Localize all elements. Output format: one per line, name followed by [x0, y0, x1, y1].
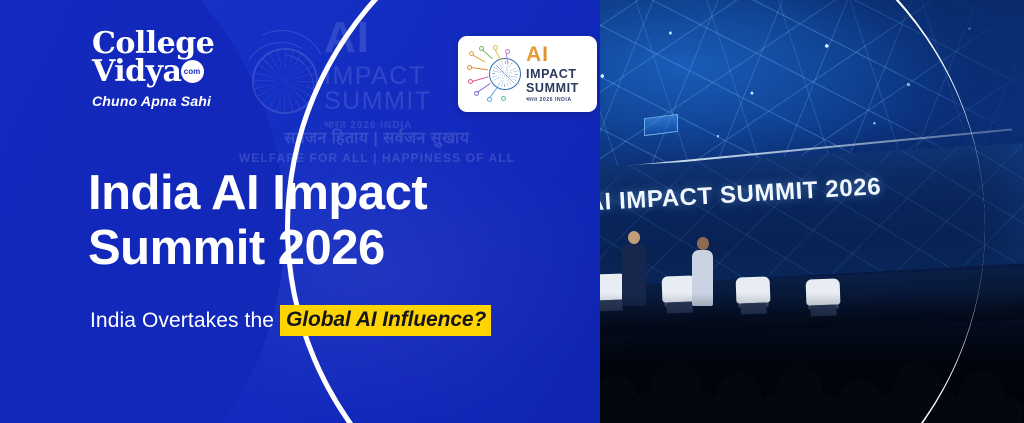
- subheadline-highlight: Global AI Influence?: [280, 305, 491, 336]
- audience-member: [716, 373, 762, 423]
- brand-line-two: Vidya: [92, 54, 182, 89]
- stage-backdrop-title: AI IMPACT SUMMIT 2026: [586, 173, 882, 217]
- ashoka-chakra-icon: [489, 58, 521, 90]
- subheadline: India Overtakes the Global AI Influence?: [90, 305, 491, 336]
- collegevidya-logo[interactable]: College Vidya com Chuno Apna Sahi: [92, 30, 242, 109]
- audience-member: [774, 365, 824, 423]
- card-summit-text: SUMMIT: [526, 82, 579, 95]
- audience-member: [958, 371, 1006, 423]
- summit-logo-card[interactable]: AI IMPACT SUMMIT भारत 2026 INDIA: [458, 36, 597, 112]
- audience-member: [650, 359, 702, 423]
- page-title: India AI Impact Summit 2026: [88, 166, 588, 276]
- summit-card-text: AI IMPACT SUMMIT भारत 2026 INDIA: [526, 44, 579, 103]
- card-country-text: भारत 2026 INDIA: [526, 98, 579, 103]
- banner-root: AI AI IMPACT SUMMIT 2026 AI: [0, 0, 1024, 423]
- card-impact-text: IMPACT: [526, 68, 579, 81]
- brand-tagline: Chuno Apna Sahi: [92, 93, 242, 109]
- brand-line-two-wrap: Vidya com: [92, 58, 182, 87]
- subheadline-plain: India Overtakes the: [90, 309, 274, 333]
- card-ai-text: AI: [526, 44, 579, 65]
- dotcom-badge-icon: com: [181, 60, 204, 83]
- audience-member: [892, 361, 944, 423]
- summit-emblem-icon: [467, 45, 523, 103]
